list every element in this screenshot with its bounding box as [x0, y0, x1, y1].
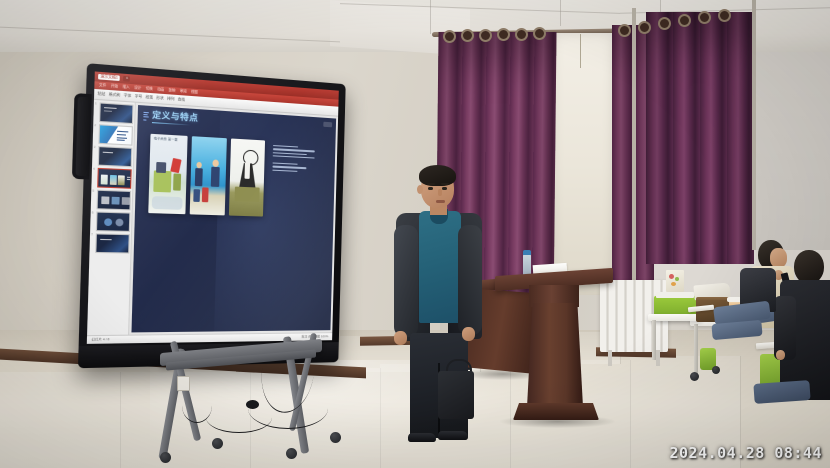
stand-caster [330, 432, 341, 443]
thumbnail-item[interactable]: 4 [93, 168, 132, 189]
toolbar-find-button[interactable]: 查找 [178, 98, 185, 102]
curtain-grommet [479, 29, 492, 42]
cable-adapter [246, 400, 259, 409]
toolbar-arrange-button[interactable]: 排列 [167, 97, 174, 101]
presenter-eye [428, 187, 433, 190]
thumbnail-number: 2 [94, 124, 98, 128]
menu-tab-animation[interactable]: 动画 [157, 88, 164, 92]
toolbar-font-button[interactable]: 字体 [124, 94, 132, 98]
toolbar-shape-button[interactable]: 形状 [156, 96, 164, 100]
menu-tab-view[interactable]: 视图 [191, 91, 198, 95]
presenter-hair [419, 165, 456, 186]
ceiling-grid-line [430, 0, 431, 34]
curtain-grommet [443, 30, 456, 43]
curtain-grommet [698, 11, 711, 24]
attendee-table-top [648, 314, 702, 321]
window-frame [632, 8, 636, 308]
podium-base [513, 403, 599, 420]
thumbnail-number: 4 [93, 168, 97, 172]
window-shade-panel [553, 33, 613, 295]
toolbar-format-painter-button[interactable]: 格式刷 [109, 93, 121, 98]
slide-bullet-marks [143, 112, 149, 120]
thumbnail-item[interactable]: 1 [94, 102, 133, 124]
curtain-grommet [461, 29, 474, 42]
curtain-grommet [497, 28, 510, 41]
presenter-standing [386, 163, 496, 453]
thumbnail-preview[interactable] [96, 211, 131, 231]
menu-tab-insert[interactable]: 插入 [123, 85, 130, 89]
stand-caster [160, 452, 171, 463]
attendee-hand [776, 350, 785, 360]
presenter-nose [438, 189, 442, 196]
slide-corner-badge [323, 122, 332, 128]
interactive-display[interactable]: 演示文稿1 + 文件 开始 插入 设计 切换 动画 放映 审阅 视图 [78, 63, 346, 368]
menu-tab-design[interactable]: 设计 [134, 86, 141, 90]
thumbnail-item[interactable]: 6 [91, 211, 130, 232]
radiator-leg [656, 350, 660, 366]
presenter-ear [417, 185, 423, 194]
presentation-app[interactable]: 演示文稿1 + 文件 开始 插入 设计 切换 动画 放映 审阅 视图 [87, 71, 339, 343]
presenter-shoe-left [408, 433, 436, 442]
thumbnail-item[interactable]: 3 [93, 146, 132, 167]
attendee-table-leg [652, 320, 656, 360]
radiator-leg [608, 350, 612, 366]
menu-tab-review[interactable]: 审阅 [180, 90, 187, 94]
thumbnail-preview[interactable] [98, 124, 133, 145]
water-bottle-cap [523, 250, 531, 255]
presenter-shirt [419, 211, 461, 323]
presenter-eyebrow [427, 183, 435, 185]
window-frame [752, 0, 756, 250]
green-side-table-top [656, 292, 694, 298]
new-tab-button[interactable]: + [124, 76, 131, 81]
thumbnail-preview[interactable] [99, 102, 134, 124]
app-body: 1 2 [87, 100, 338, 335]
thumbnail-number: 3 [94, 146, 98, 150]
document-tab[interactable]: 演示文稿1 [98, 74, 120, 80]
menu-tab-transition[interactable]: 切换 [146, 87, 153, 91]
podium-column [527, 303, 583, 407]
stand-caster [286, 448, 297, 459]
menu-tab-file[interactable]: 文件 [99, 84, 106, 88]
curtain-grommet [618, 24, 631, 37]
floor-tile [0, 372, 121, 468]
photo-timestamp: 2024.04.28 08:44 [670, 444, 823, 462]
thumbnail-preview-selected[interactable] [97, 168, 132, 189]
photo-scene: 演示文稿1 + 文件 开始 插入 设计 切换 动画 放映 审阅 视图 [0, 0, 830, 468]
floral-tissue-box [666, 270, 684, 292]
slide-title: 定义与特点 [152, 111, 198, 122]
black-bag [438, 371, 474, 419]
chair-wheel [712, 366, 720, 374]
thumbnail-item[interactable]: 5 [92, 189, 131, 210]
curtain-grommet [638, 21, 651, 34]
presenter-mouth [436, 200, 445, 203]
wall-power-outlet [177, 376, 190, 391]
thumbnail-number: 1 [95, 102, 99, 106]
attendee-table-leg [694, 324, 698, 378]
curtain-grommet [515, 28, 528, 41]
window-cord [580, 34, 581, 68]
curtain-grommet [533, 27, 546, 40]
presenter-eye [442, 187, 447, 190]
thumbnail-preview[interactable] [97, 190, 132, 211]
curtain-grommet [658, 17, 671, 30]
display-screen[interactable]: 演示文稿1 + 文件 开始 插入 设计 切换 动画 放映 审阅 视图 [87, 71, 339, 343]
illustration-panel-3 [229, 138, 265, 216]
thumbnail-number: 5 [92, 189, 96, 193]
thumbnail-preview[interactable] [98, 146, 133, 167]
ceiling-grid-line [560, 0, 561, 26]
current-slide[interactable]: 定义与特点 电子商务 第一章 [131, 105, 336, 332]
thumbnail-number: 7 [91, 233, 95, 237]
thumbnail-item[interactable]: 7 [91, 233, 130, 253]
menu-tab-home[interactable]: 开始 [111, 85, 118, 89]
slide-body-text [272, 145, 315, 173]
purple-curtain-right [646, 12, 754, 264]
slide-editing-pane[interactable]: 定义与特点 电子商务 第一章 [129, 103, 338, 335]
thumbnail-item[interactable]: 2 [94, 124, 133, 146]
toolbar-fontsize-button[interactable]: 字号 [135, 95, 143, 99]
illustration-panel-1-caption: 电子商务 第一章 [154, 137, 178, 142]
presenter-hand-left [394, 331, 407, 345]
menu-tab-slideshow[interactable]: 放映 [169, 89, 176, 93]
presenter-eyebrow [441, 183, 449, 185]
presenter-sleeve-left [394, 225, 418, 337]
attendee-seated-3 [722, 268, 776, 388]
status-slide-counter: 幻灯片 4 / 8 [91, 338, 109, 342]
curtain-grommet [678, 14, 691, 27]
illustration-panel-2 [190, 136, 227, 215]
display-side-handle [72, 93, 92, 180]
thumbnail-number: 6 [92, 211, 96, 215]
curtain-grommet [718, 9, 731, 22]
attendee-hair [794, 250, 824, 284]
attendee-leg [711, 320, 762, 340]
presenter-shoe-right [438, 431, 468, 440]
slide-thumbnail-panel[interactable]: 1 2 [87, 100, 136, 335]
stand-caster [212, 438, 223, 449]
toolbar-paragraph-button[interactable]: 段落 [145, 96, 153, 100]
illustration-panel-1: 电子商务 第一章 [148, 134, 187, 214]
chair-wheel [690, 372, 699, 381]
thumbnail-preview[interactable] [95, 233, 130, 253]
presenter-sleeve-right [458, 225, 482, 335]
toolbar-paste-button[interactable]: 粘贴 [98, 92, 106, 96]
attendee-seated-2 [776, 250, 830, 468]
slide-title-underline [152, 122, 191, 126]
presenter-hand-right [462, 327, 475, 341]
